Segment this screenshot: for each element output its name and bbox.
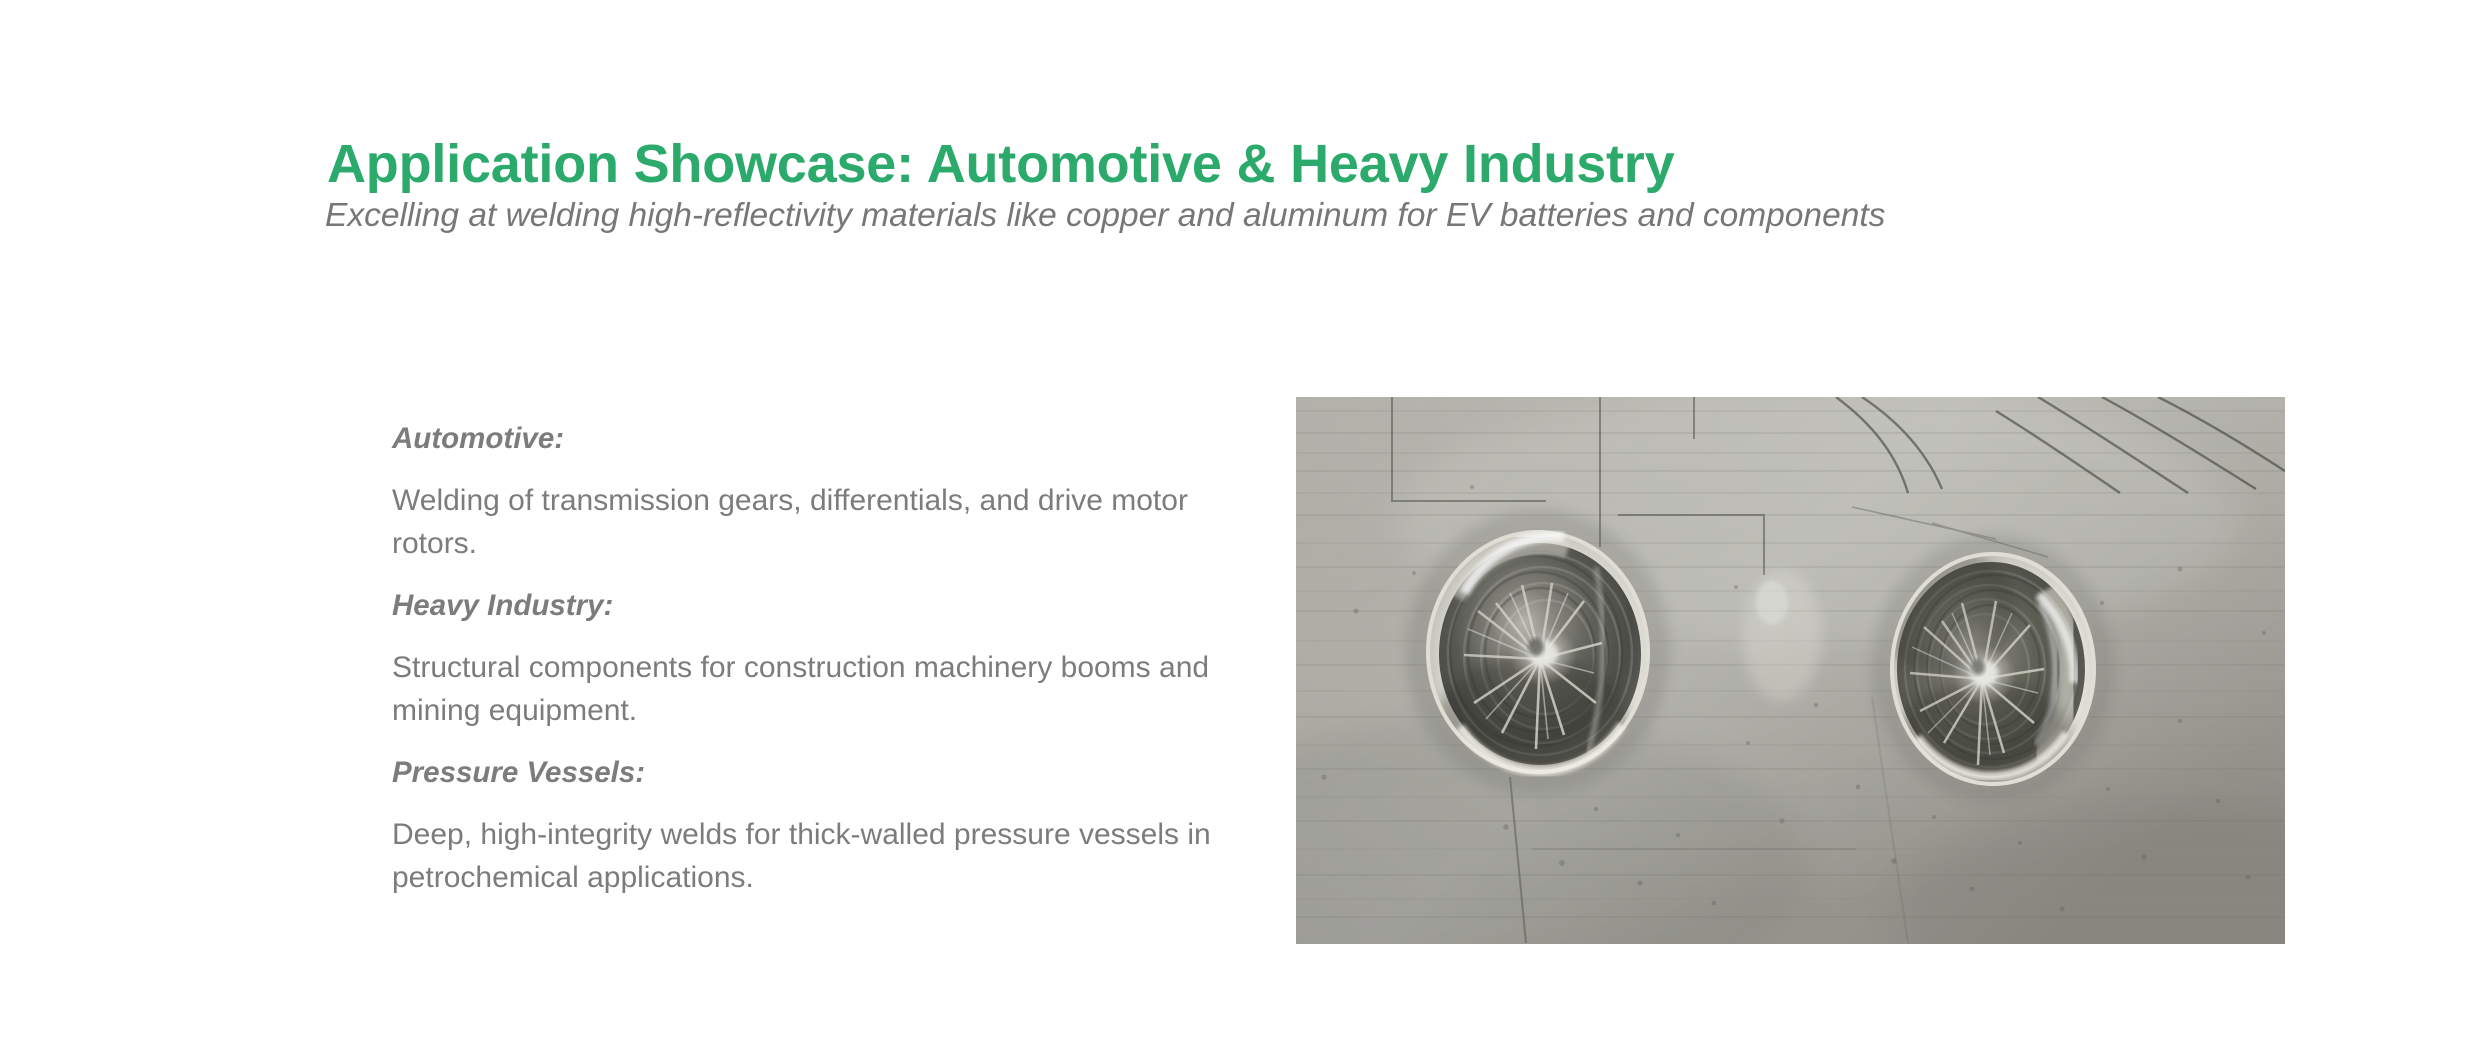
section-body-automotive: Welding of transmission gears, different… [392, 479, 1237, 565]
section-body-pressure-vessels: Deep, high-integrity welds for thick-wal… [392, 813, 1237, 899]
list-item: Heavy Industry: Structural components fo… [392, 585, 1252, 732]
page-title: Application Showcase: Automotive & Heavy… [327, 134, 1674, 194]
section-heading-heavy-industry: Heavy Industry: [392, 585, 1252, 627]
page-subtitle: Excelling at welding high-reflectivity m… [325, 196, 1885, 236]
list-item: Automotive: Welding of transmission gear… [392, 418, 1252, 565]
slide-canvas: Application Showcase: Automotive & Heavy… [0, 0, 2481, 1063]
application-list: Automotive: Welding of transmission gear… [392, 418, 1252, 899]
weld-photo-graphic [1296, 397, 2285, 944]
list-item: Pressure Vessels: Deep, high-integrity w… [392, 752, 1252, 899]
section-heading-automotive: Automotive: [392, 418, 1252, 460]
section-heading-pressure-vessels: Pressure Vessels: [392, 752, 1252, 794]
weld-sample-photo [1296, 397, 2285, 944]
section-body-heavy-industry: Structural components for construction m… [392, 646, 1237, 732]
